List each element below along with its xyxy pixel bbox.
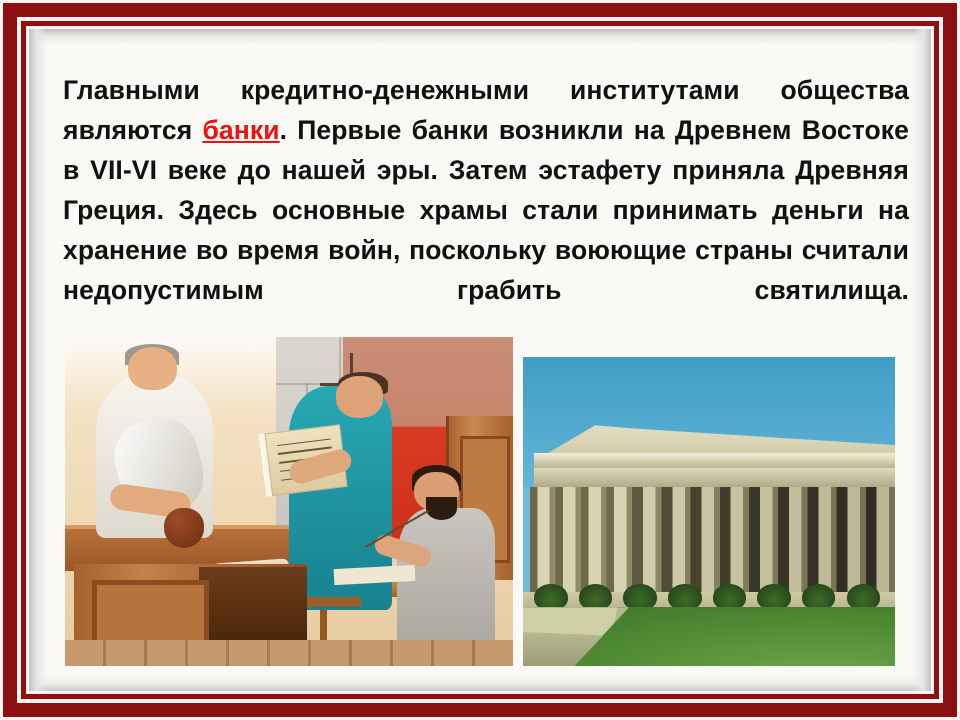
client-head	[336, 376, 383, 417]
illustration-scene	[65, 337, 513, 666]
lawn-and-path	[523, 607, 895, 666]
banker-head	[128, 347, 177, 390]
coin-purse	[164, 508, 204, 547]
shrub-row	[523, 573, 895, 610]
ancient-bankers-illustration	[65, 337, 513, 666]
slide-content-panel: Главными кредитно-денежными институтами …	[29, 29, 931, 691]
tiled-floor	[65, 640, 513, 666]
temple-cornice	[534, 453, 895, 468]
slide-root: Главными кредитно-денежными институтами …	[0, 0, 960, 720]
greek-temple-photo	[523, 357, 895, 666]
highlighted-term-banki: банки	[202, 115, 279, 145]
stool	[302, 597, 360, 607]
scribe-beard	[426, 497, 457, 520]
body-paragraph: Главными кредитно-денежными институтами …	[63, 70, 909, 350]
